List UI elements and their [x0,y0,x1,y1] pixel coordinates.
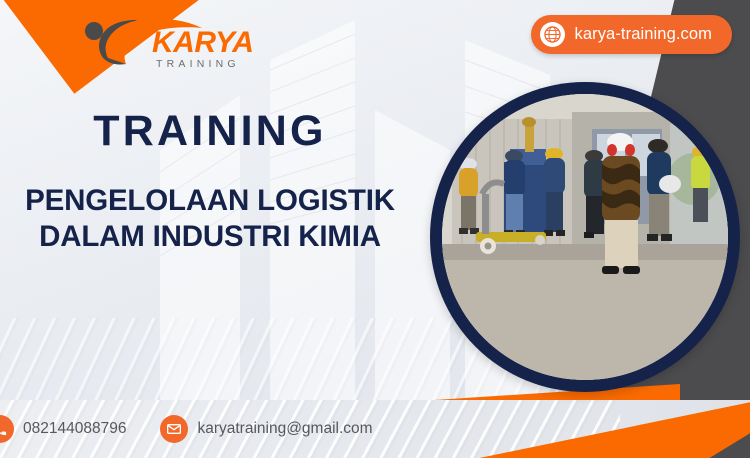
footer-contact-bar: 082144088796 karyatraining@gmail.com [0,400,750,458]
envelope-icon [160,415,188,443]
phone-icon [0,415,14,443]
email-contact[interactable]: karyatraining@gmail.com [160,415,372,443]
email-address: karyatraining@gmail.com [197,420,372,438]
photo-circle-frame [430,82,740,392]
website-badge[interactable]: karya-training.com [531,15,732,54]
headline-eyebrow: TRAINING [0,110,420,153]
svg-text:KARYA: KARYA [152,26,253,59]
phone-contact[interactable]: 082144088796 [0,415,126,443]
headline-line-2: DALAM INDUSTRI KIMIA [0,219,420,255]
globe-icon [540,22,565,47]
headline-line-1: PENGELOLAAN LOGISTIK [0,183,420,219]
website-url: karya-training.com [574,25,712,44]
phone-number: 082144088796 [23,420,126,438]
training-photo [442,94,728,380]
training-banner: KARYA TRAINING karya-training.com TRAINI… [0,0,750,458]
headline-block: TRAINING PENGELOLAAN LOGISTIK DALAM INDU… [0,110,420,255]
svg-text:TRAINING: TRAINING [156,58,240,70]
karya-training-logo[interactable]: KARYA TRAINING [78,14,278,76]
